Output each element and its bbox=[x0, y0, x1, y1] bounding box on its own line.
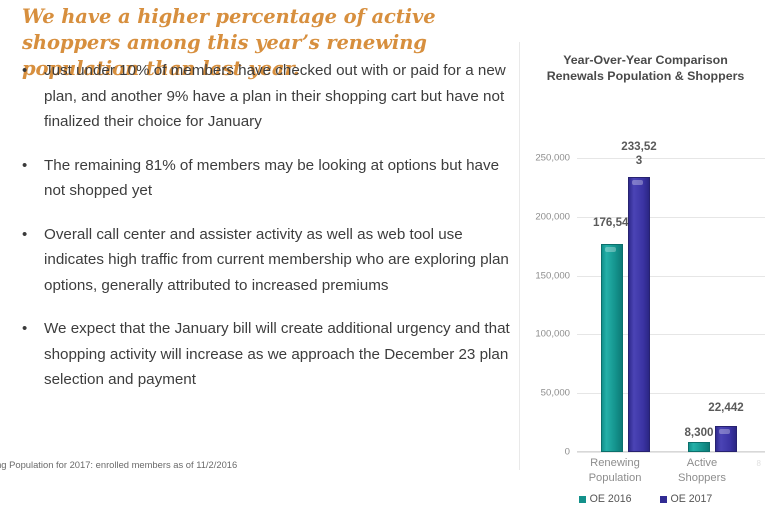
bar-active-shoppers-oe2017[interactable] bbox=[715, 426, 737, 452]
legend-label: OE 2017 bbox=[671, 493, 713, 505]
bar-label-line-1: 233,52 bbox=[599, 140, 679, 154]
list-item-text: We expect that the January bill will cre… bbox=[44, 316, 518, 393]
bar-renewing-population-oe2017[interactable] bbox=[628, 177, 650, 452]
bar-label-line-2: 3 bbox=[599, 154, 679, 168]
y-axis-tick-label: 250,000 bbox=[535, 153, 570, 164]
y-axis-tick-label: 100,000 bbox=[535, 329, 570, 340]
y-axis-tick-label: 0 bbox=[565, 447, 570, 458]
category-label-line-2: Shoppers bbox=[664, 471, 740, 486]
list-item-text: Just under 10% of members have checked o… bbox=[44, 58, 518, 135]
chart-panel: Year-Over-Year Comparison Renewals Popul… bbox=[519, 42, 770, 470]
list-item: • The remaining 81% of members may be lo… bbox=[18, 153, 518, 204]
list-item: • Overall call center and assister activ… bbox=[18, 222, 518, 299]
bar-gloss bbox=[605, 247, 617, 252]
chart-title-line-1: Year-Over-Year Comparison bbox=[520, 52, 770, 68]
legend-swatch-icon bbox=[579, 496, 586, 503]
bullet-dot-icon: • bbox=[18, 58, 44, 84]
bullet-dot-icon: • bbox=[18, 316, 44, 342]
page-number: 8 bbox=[757, 459, 761, 468]
chart-legend: OE 2016 OE 2017 bbox=[520, 493, 770, 505]
y-axis-tick-label: 200,000 bbox=[535, 211, 570, 222]
list-item: • We expect that the January bill will c… bbox=[18, 316, 518, 393]
bar-gloss bbox=[632, 180, 644, 185]
gridline-0: 0 bbox=[577, 452, 765, 453]
list-item-text: Overall call center and assister activit… bbox=[44, 222, 518, 299]
bar-gloss bbox=[719, 429, 731, 434]
bar-label-active-shoppers-oe2017: 22,442 bbox=[687, 401, 765, 415]
chart-plot-area: 250,000 200,000 150,000 100,000 50,000 0… bbox=[577, 158, 765, 452]
chart-title: Year-Over-Year Comparison Renewals Popul… bbox=[520, 52, 770, 84]
list-item: • Just under 10% of members have checked… bbox=[18, 58, 518, 135]
legend-swatch-icon bbox=[660, 496, 667, 503]
legend-label: OE 2016 bbox=[590, 493, 632, 505]
bar-renewing-population-oe2016[interactable] bbox=[601, 244, 623, 452]
bar-active-shoppers-oe2016[interactable] bbox=[688, 442, 710, 452]
list-item-text: The remaining 81% of members may be look… bbox=[44, 153, 518, 204]
legend-item-oe-2017[interactable]: OE 2017 bbox=[660, 493, 713, 505]
category-label-line-1: Renewing bbox=[577, 456, 653, 471]
bullet-dot-icon: • bbox=[18, 222, 44, 248]
x-axis-category-active-shoppers: Active Shoppers bbox=[664, 456, 740, 485]
y-axis-tick-label: 150,000 bbox=[535, 270, 570, 281]
bar-label-renewing-population-oe2017: 233,52 3 bbox=[599, 140, 679, 168]
x-axis-category-renewing-population: Renewing Population bbox=[577, 456, 653, 485]
category-label-line-2: Population bbox=[577, 471, 653, 486]
legend-item-oe-2016[interactable]: OE 2016 bbox=[579, 493, 632, 505]
category-label-line-1: Active bbox=[664, 456, 740, 471]
y-axis-tick-label: 50,000 bbox=[541, 388, 570, 399]
bullet-dot-icon: • bbox=[18, 153, 44, 179]
chart-title-line-2: Renewals Population & Shoppers bbox=[520, 68, 770, 84]
bullet-list: • Just under 10% of members have checked… bbox=[18, 58, 518, 411]
footnote-source-text: ing Population for 2017: enrolled member… bbox=[0, 459, 237, 470]
